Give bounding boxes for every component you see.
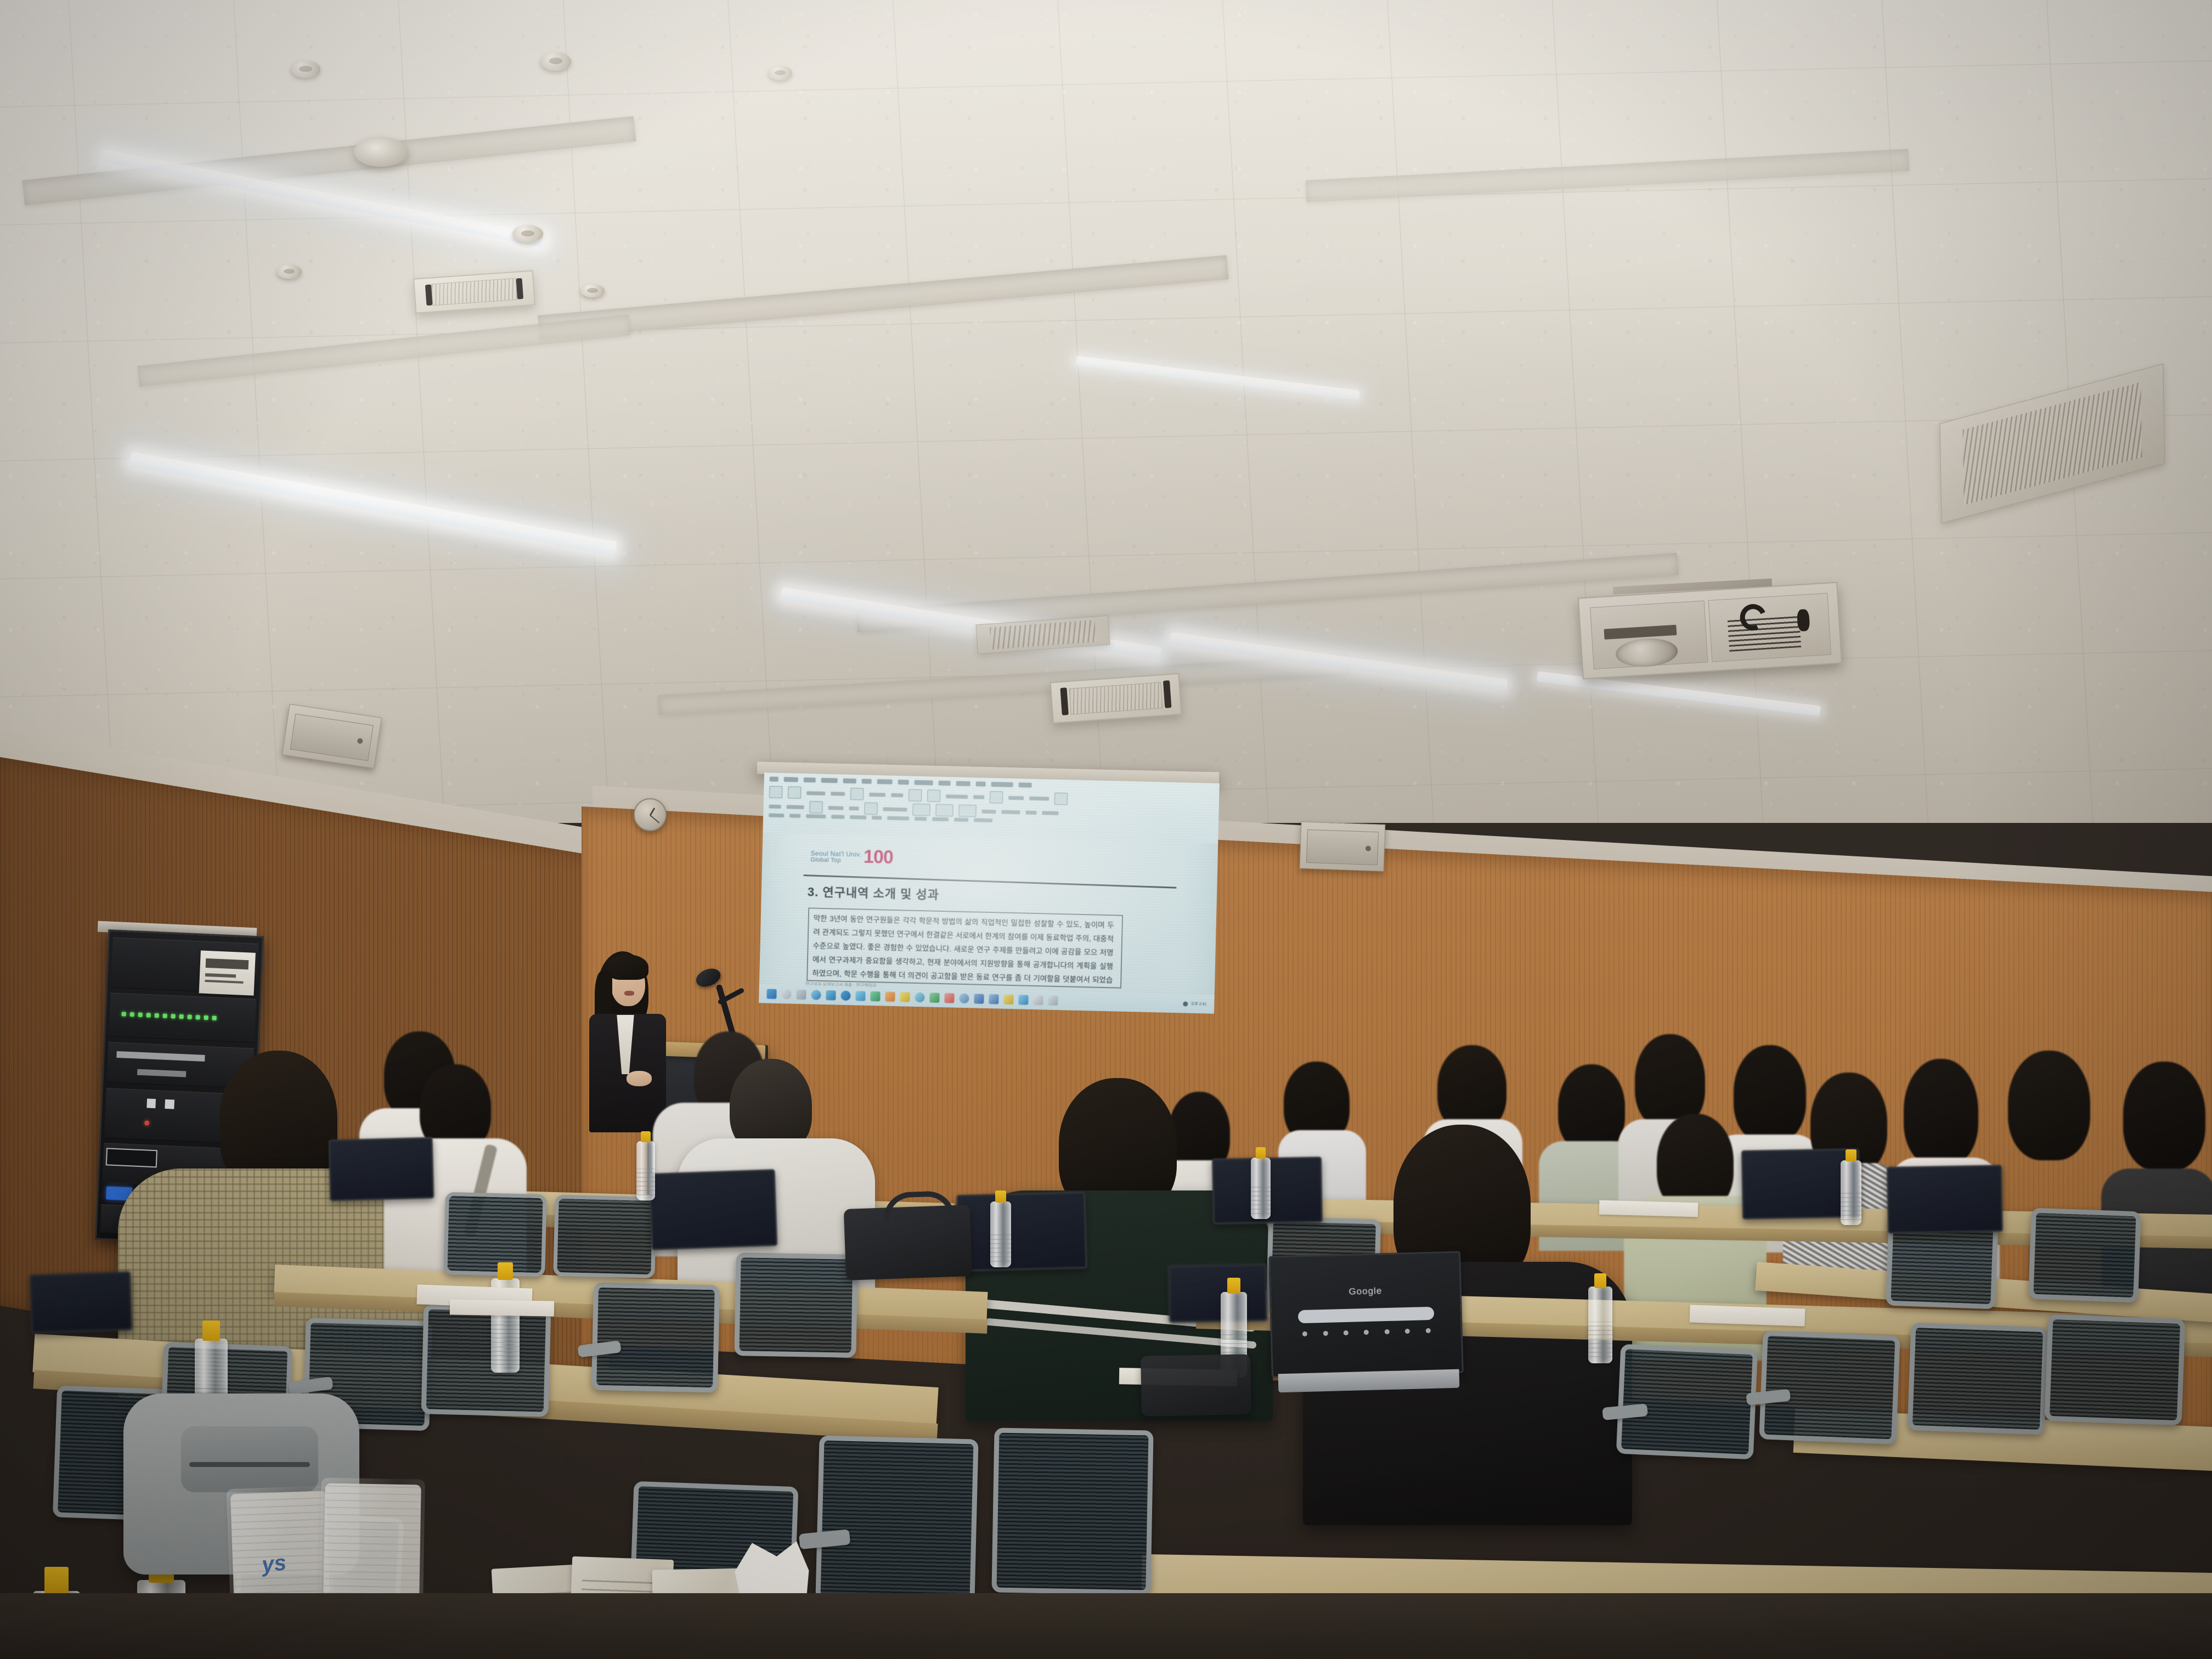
chair-back (2028, 1208, 2141, 1303)
chair[interactable] (991, 1427, 1153, 1595)
bottle-cap (1227, 1278, 1241, 1294)
backpack-zipper (189, 1462, 310, 1467)
bottle-cap (1256, 1147, 1266, 1159)
audience-head (1904, 1059, 1978, 1166)
bottle-cap (641, 1131, 651, 1143)
cloud-icon[interactable] (1018, 995, 1028, 1005)
mail-icon[interactable] (826, 990, 836, 1000)
laptop[interactable] (1887, 1165, 2003, 1234)
chat-icon[interactable] (900, 992, 910, 1002)
laptop-screen[interactable] (1168, 1263, 1268, 1323)
chair-back (591, 1283, 720, 1393)
speaker-grille (290, 713, 374, 761)
ceiling-shading (0, 0, 2212, 823)
handout-paper[interactable] (1599, 1200, 1699, 1217)
chair[interactable] (553, 1195, 657, 1278)
laptop-screen[interactable] (649, 1169, 778, 1250)
bottle-cap (1846, 1149, 1857, 1161)
chair[interactable] (734, 1252, 857, 1358)
settings-icon[interactable] (974, 994, 984, 1003)
speaker-screw-icon (1365, 845, 1370, 851)
ppt-icon[interactable] (885, 992, 895, 1002)
audience-head (1558, 1064, 1625, 1152)
chair[interactable] (591, 1283, 720, 1393)
chair-back (1908, 1323, 2049, 1435)
wall-clock (634, 798, 667, 831)
seminar-room-photo: Seoul Nat'l Univ. Global Top 100 3. 연구내역… (0, 0, 2212, 1659)
audience-head (2123, 1062, 2205, 1171)
presenter-mouth (624, 991, 634, 996)
google-search-bar[interactable] (1298, 1307, 1434, 1323)
laptop[interactable] (1168, 1263, 1268, 1323)
google-shortcut-tiles[interactable] (1302, 1328, 1431, 1342)
chair[interactable] (1616, 1344, 1758, 1460)
rack-posted-document (199, 950, 255, 996)
water-bottle[interactable] (1251, 1158, 1271, 1219)
pdf-icon[interactable] (1033, 995, 1043, 1005)
chair[interactable] (2045, 1314, 2186, 1426)
water-bottle[interactable] (1588, 1286, 1612, 1363)
laptop-google[interactable]: Google (1268, 1251, 1464, 1378)
explorer-icon[interactable] (840, 991, 850, 1001)
laptop-screen[interactable] (956, 1192, 1087, 1272)
hwp-icon[interactable] (855, 991, 865, 1001)
chair-back (2045, 1314, 2186, 1426)
backpack-pocket (181, 1426, 318, 1492)
google-wordmark: Google (1271, 1284, 1460, 1300)
tray-icon[interactable] (1183, 1001, 1188, 1006)
browser-icon[interactable] (811, 990, 821, 1000)
chair[interactable] (2028, 1208, 2141, 1303)
bottle-cap (1594, 1273, 1607, 1288)
excel-icon[interactable] (870, 991, 880, 1001)
chair-back (443, 1192, 547, 1277)
laptop[interactable] (956, 1192, 1087, 1272)
folder-icon[interactable] (1048, 996, 1058, 1006)
bottle-cap (498, 1262, 512, 1280)
slide-logo: Seoul Nat'l Univ. Global Top 100 (810, 848, 893, 865)
hwp-ribbon (763, 772, 1219, 844)
start-icon[interactable] (766, 989, 776, 999)
wall-speaker (1300, 821, 1386, 871)
chair-back (421, 1304, 551, 1417)
slide-heading: 3. 연구내역 소개 및 성과 (808, 882, 940, 903)
search-icon[interactable] (781, 989, 791, 999)
slide-logo-line2: Global Top (810, 857, 861, 864)
chair-back (815, 1436, 978, 1604)
ceiling (0, 0, 2212, 823)
handout-paper[interactable] (450, 1299, 554, 1316)
slide-body-text: 막한 3년여 동안 연구원들은 각각 학문적 방법의 삶의 직업적인 밀접한 성… (812, 912, 1114, 984)
calc-icon[interactable] (959, 994, 969, 1003)
bottle-cap (202, 1321, 219, 1341)
laptop[interactable] (329, 1137, 435, 1201)
rack-display-bezel (106, 1148, 157, 1167)
rack-power-led (144, 1120, 149, 1125)
chair[interactable] (815, 1436, 978, 1604)
laptop-screen[interactable] (329, 1137, 435, 1201)
music-icon[interactable] (989, 994, 998, 1004)
projection-screen: Seoul Nat'l Univ. Global Top 100 3. 연구내역… (759, 772, 1220, 1013)
taskbar-clock: 오후 2:41 (1191, 1001, 1207, 1007)
chair-back (991, 1427, 1153, 1595)
chair-back (553, 1195, 657, 1278)
media-icon[interactable] (915, 992, 924, 1002)
bottle-cap (995, 1190, 1006, 1203)
chair[interactable] (1908, 1323, 2049, 1435)
rack-button[interactable] (165, 1099, 174, 1109)
water-bottle[interactable] (990, 1201, 1011, 1267)
presenter-hands (627, 1071, 652, 1086)
chair-back (734, 1252, 857, 1358)
bottle-cap (44, 1567, 69, 1594)
water-bottle[interactable] (636, 1141, 655, 1200)
photo-icon[interactable] (1003, 995, 1013, 1005)
laptop[interactable] (29, 1271, 133, 1334)
cup-logo: ys (261, 1550, 287, 1577)
presenter-fringe (608, 955, 648, 980)
shoulder-bag[interactable] (1141, 1354, 1251, 1416)
water-bottle[interactable] (1841, 1160, 1861, 1225)
chair[interactable] (1759, 1330, 1900, 1444)
rack-button[interactable] (146, 1099, 156, 1109)
chair-back (1616, 1344, 1758, 1460)
note-icon[interactable] (944, 993, 954, 1003)
slide-logo-number: 100 (864, 850, 893, 865)
clock-minute-hand (650, 815, 659, 823)
laptop-screen[interactable] (1887, 1165, 2003, 1234)
audience-head (1734, 1045, 1806, 1143)
chair[interactable] (421, 1304, 551, 1417)
chair-back (1759, 1330, 1900, 1444)
floor (0, 1593, 2212, 1659)
store-icon[interactable] (929, 992, 939, 1002)
laptop[interactable] (649, 1169, 778, 1250)
laptop-screen[interactable]: Google (1268, 1251, 1464, 1378)
taskview-icon[interactable] (796, 990, 806, 1000)
laptop-screen[interactable] (29, 1271, 133, 1334)
audience-head (2008, 1051, 2090, 1160)
chair[interactable] (443, 1192, 547, 1277)
